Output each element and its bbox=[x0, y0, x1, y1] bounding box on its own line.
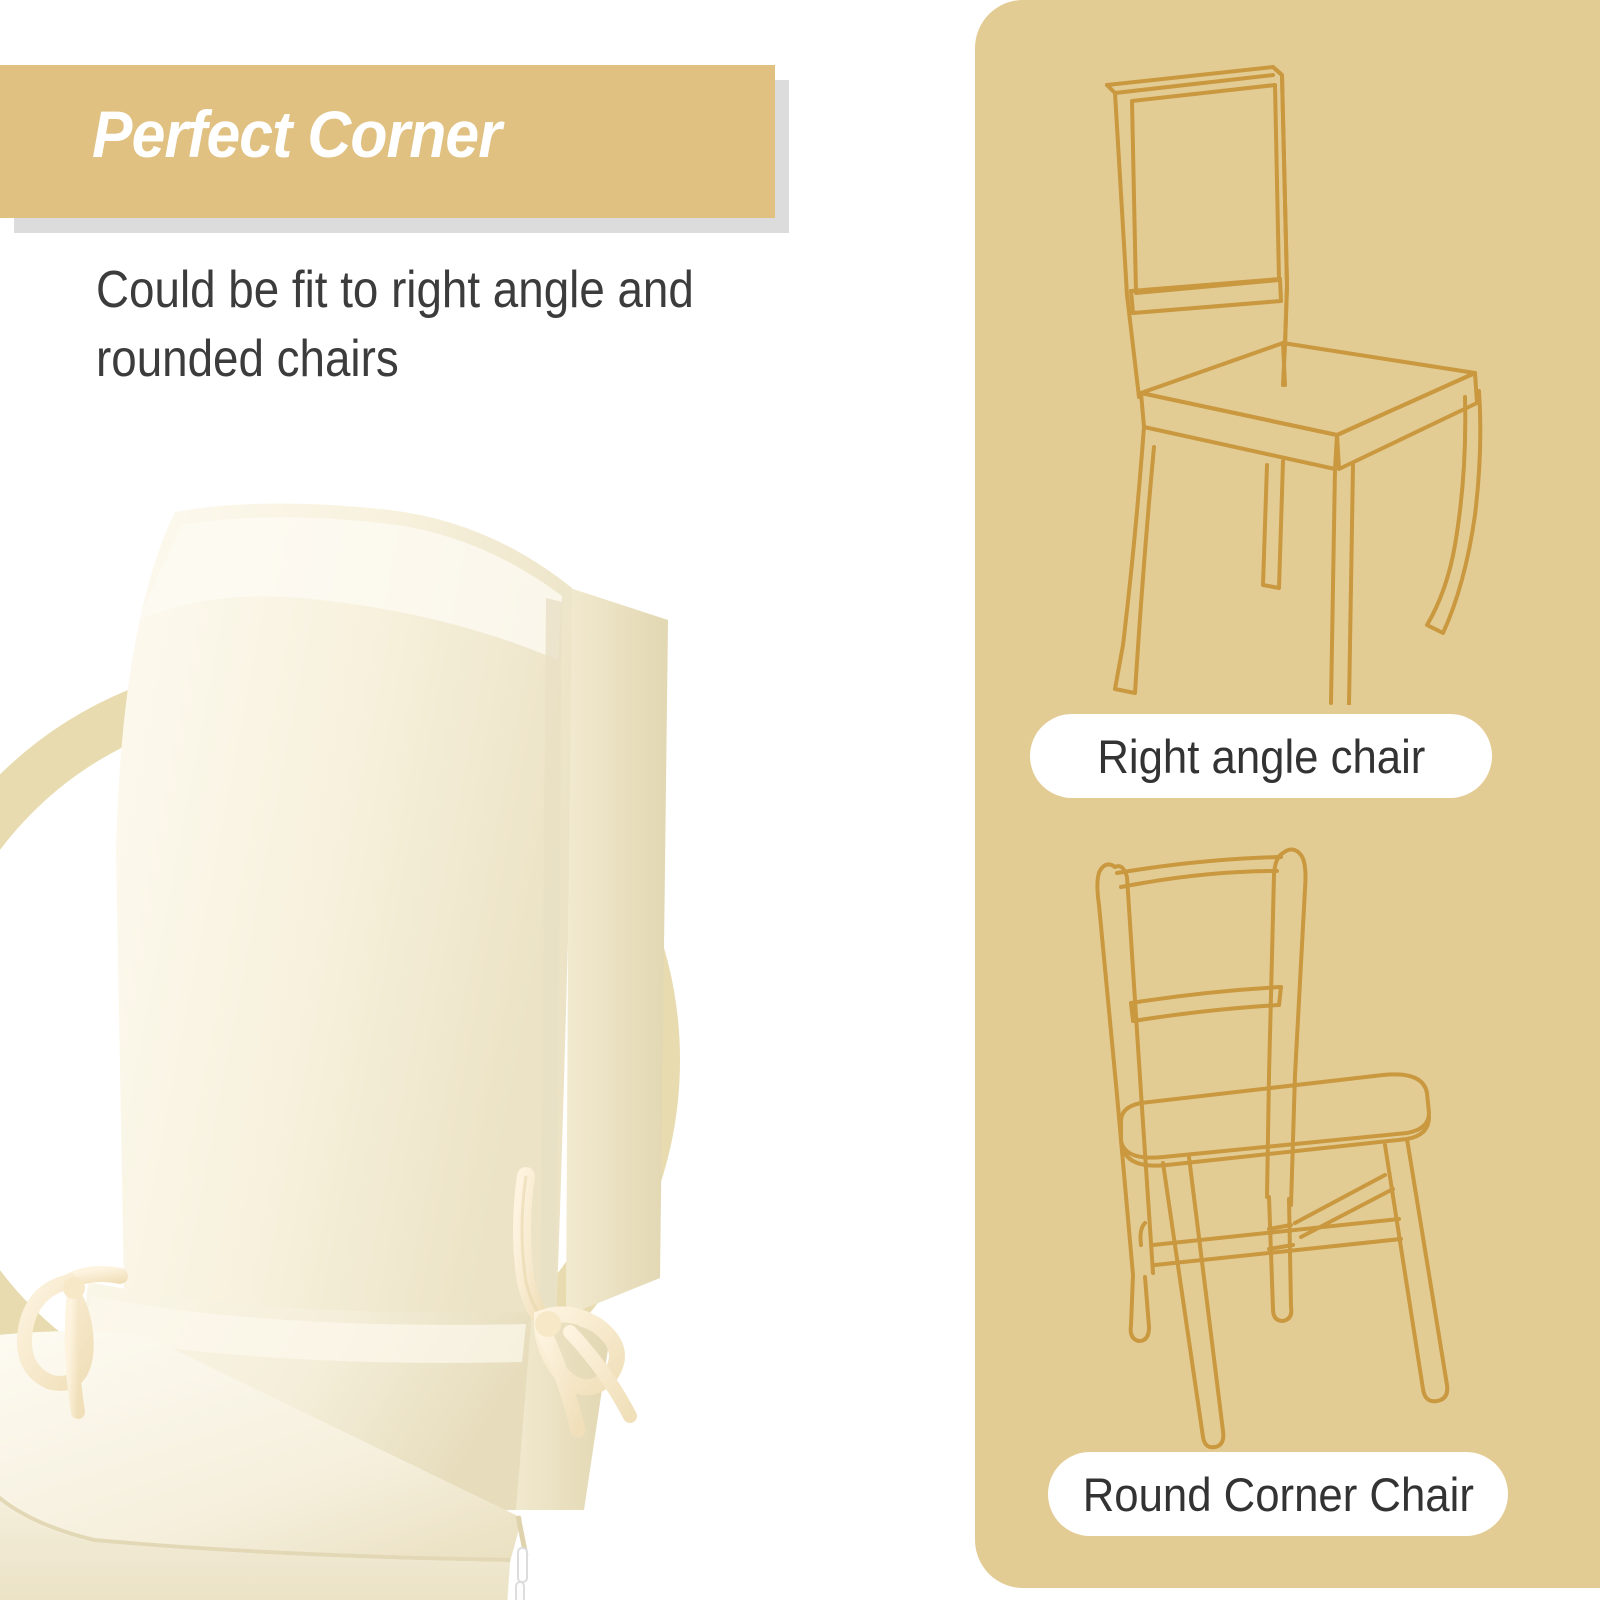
label-right-angle-chair-text: Right angle chair bbox=[1097, 729, 1425, 784]
label-round-corner-chair: Round Corner Chair bbox=[1048, 1452, 1508, 1536]
label-right-angle-chair: Right angle chair bbox=[1030, 714, 1492, 798]
page-title: Perfect Corner bbox=[92, 96, 501, 172]
page-subtitle: Could be fit to right angle and rounded … bbox=[96, 256, 826, 394]
chair-cushion-photo bbox=[0, 470, 710, 1600]
round-corner-chair-illustration bbox=[1055, 825, 1505, 1455]
label-round-corner-chair-text: Round Corner Chair bbox=[1082, 1467, 1473, 1522]
right-angle-chair-illustration bbox=[1035, 45, 1495, 705]
infographic-canvas: Perfect Corner Could be fit to right ang… bbox=[0, 0, 1600, 1600]
